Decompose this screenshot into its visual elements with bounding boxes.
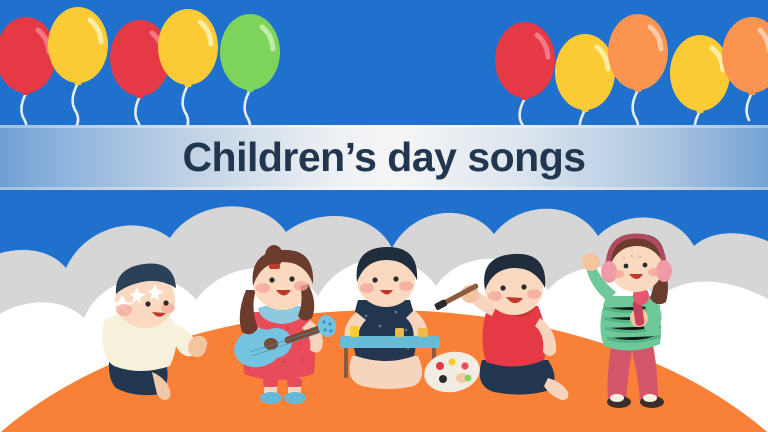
balloon-green-1 [220,14,280,138]
title-banner: Children’s day songs [0,125,768,190]
poster-canvas: Children’s day songs [0,0,768,432]
balloon-orange-1 [608,14,668,138]
balloon-group-left [0,7,280,142]
balloons-decoration [0,0,768,432]
page-title: Children’s day songs [182,134,585,181]
balloon-yellow-2 [158,9,218,133]
balloon-orange-2 [722,17,768,120]
balloon-yellow-1 [48,7,108,131]
balloon-red-1 [0,17,56,139]
